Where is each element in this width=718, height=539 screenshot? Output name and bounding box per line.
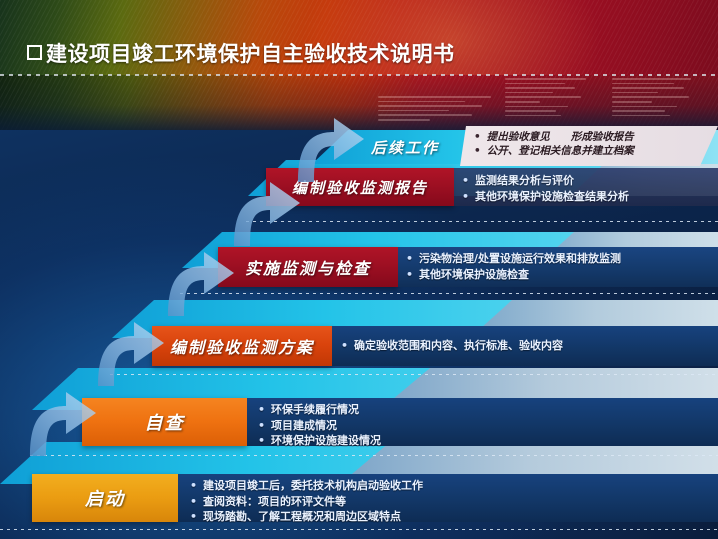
curved-up-right-arrow-icon-3 xyxy=(160,246,238,318)
process-staircase-diagram: 启动 建设项目竣工后，委托技术机构启动验收工作 查阅资料：项目的环评文件等 现场… xyxy=(0,0,718,539)
bullet-item: 监测结果分析与评价 xyxy=(462,173,629,189)
bullet-item: 提出验收意见 形成验收报告 xyxy=(474,130,634,144)
bullet-item: 环保手续履行情况 xyxy=(258,402,381,418)
step-label-6-text: 后续工作 xyxy=(371,137,439,158)
bullet-item: 其他环境保护设施检查 xyxy=(406,267,621,283)
bullet-item: 查阅资料：项目的环评文件等 xyxy=(190,494,423,510)
bullet-item: 污染物治理/处置设施运行效果和排放监测 xyxy=(406,251,621,267)
page-title: 建设项目竣工环境保护自主验收技术说明书 xyxy=(27,38,455,68)
step-separator-3 xyxy=(110,374,718,375)
bullet-item: 建设项目竣工后，委托技术机构启动验收工作 xyxy=(190,478,423,494)
step-bullets-6: 提出验收意见 形成验收报告 公开、登记相关信息并建立档案 xyxy=(474,130,634,158)
hollow-square-bullet-icon xyxy=(27,45,42,60)
step-separator-4 xyxy=(180,293,718,294)
step-separator-1 xyxy=(0,529,718,530)
slide-canvas: 建设项目竣工环境保护自主验收技术说明书 xyxy=(0,0,718,539)
bullet-item: 确定验收范围和内容、执行标准、验收内容 xyxy=(341,338,563,354)
bullet-item: 环境保护设施建设情况 xyxy=(258,433,381,449)
step-bullets-4: 污染物治理/处置设施运行效果和排放监测 其他环境保护设施检查 xyxy=(406,251,621,282)
step-bullets-3: 确定验收范围和内容、执行标准、验收内容 xyxy=(341,338,563,354)
bullet-item: 公开、登记相关信息并建立档案 xyxy=(474,144,634,158)
step-bullets-5: 监测结果分析与评价 其他环境保护设施检查结果分析 xyxy=(462,173,629,204)
bullet-item: 现场踏勘、了解工程概况和周边区域特点 xyxy=(190,509,423,525)
step-label-3[interactable]: 编制验收监测方案 xyxy=(152,326,332,366)
step-label-3-text: 编制验收监测方案 xyxy=(170,334,314,358)
curved-up-right-arrow-icon-5 xyxy=(290,112,368,184)
step-bullets-2: 环保手续履行情况 项目建成情况 环境保护设施建设情况 xyxy=(258,402,381,449)
step-label-4[interactable]: 实施监测与检查 xyxy=(218,247,398,287)
curved-up-right-arrow-icon-4 xyxy=(226,176,304,248)
step-separator-5 xyxy=(246,221,718,222)
page-title-text: 建设项目竣工环境保护自主验收技术说明书 xyxy=(46,42,455,66)
step-bullets-1: 建设项目竣工后，委托技术机构启动验收工作 查阅资料：项目的环评文件等 现场踏勘、… xyxy=(190,478,423,525)
curved-up-right-arrow-icon-2 xyxy=(90,316,168,388)
step-separator-2 xyxy=(30,455,718,456)
step-label-1[interactable]: 启动 xyxy=(32,474,178,522)
step-label-2[interactable]: 自查 xyxy=(82,398,247,446)
step-label-2-text: 自查 xyxy=(145,409,185,435)
step-label-4-text: 实施监测与检查 xyxy=(245,255,371,279)
bullet-item: 项目建成情况 xyxy=(258,418,381,434)
step-label-1-text: 启动 xyxy=(85,485,125,511)
bullet-item: 其他环境保护设施检查结果分析 xyxy=(462,189,629,205)
curved-up-right-arrow-icon-1 xyxy=(22,386,100,458)
